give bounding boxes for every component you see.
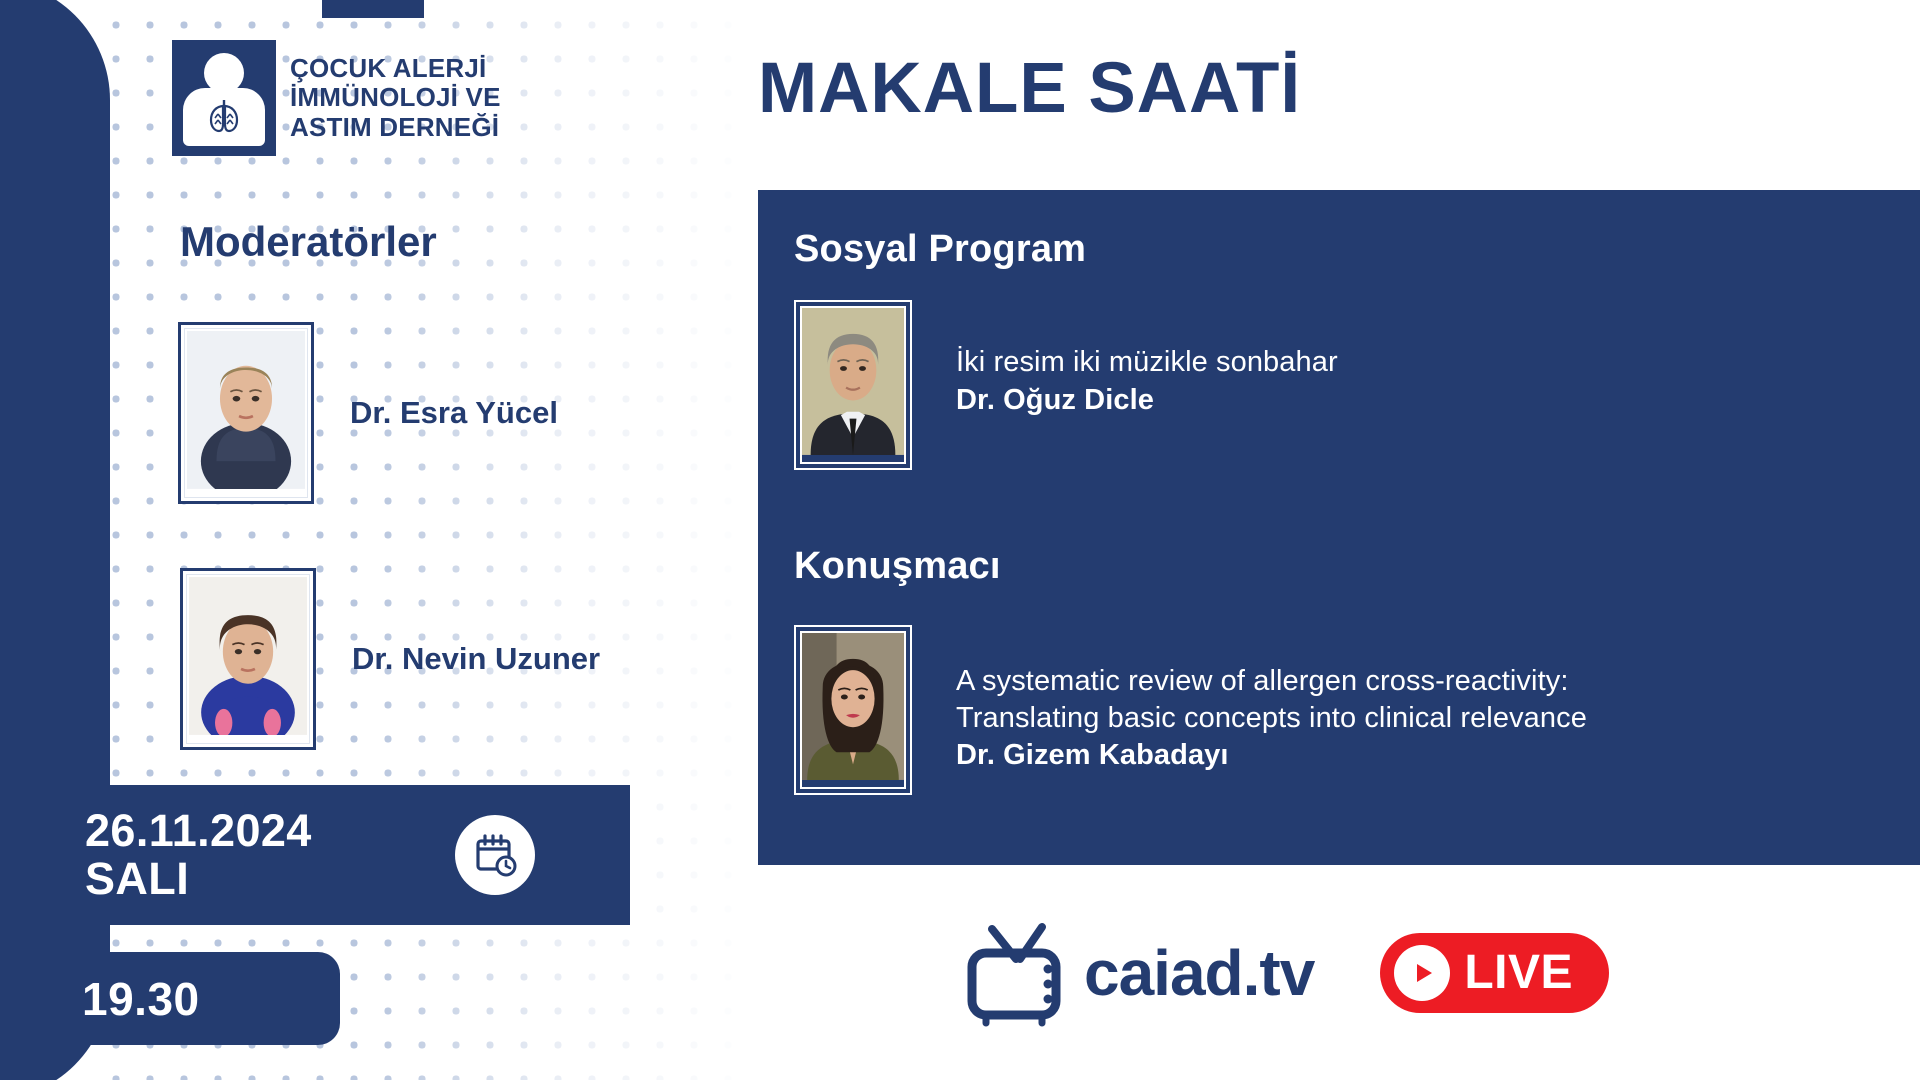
program-panel: Sosyal Program [758,190,1920,865]
moderator-row: Dr. Esra Yücel [178,322,558,504]
speaker-talk-title-line1: A systematic review of allergen cross-re… [956,663,1587,700]
social-program-entry: İki resim iki müzikle sonbahar Dr. Oğuz … [794,300,1338,470]
page-title: MAKALE SAATİ [758,48,1301,129]
avatar [180,568,316,750]
social-program-heading: Sosyal Program [794,228,1086,271]
moderators-heading: Moderatörler [180,218,437,266]
social-program-text: İki resim iki müzikle sonbahar Dr. Oğuz … [956,300,1338,417]
portrait-nevin-uzuner [189,577,307,735]
avatar [794,625,912,795]
play-icon [1394,945,1450,1001]
logo-line-3: ASTIM DERNEĞİ [290,113,501,142]
association-logo-text: ÇOCUK ALERJİ İMMÜNOLOJİ VE ASTIM DERNEĞİ [290,54,501,142]
event-time: 19.30 [82,972,200,1026]
speaker-entry: A systematic review of allergen cross-re… [794,625,1587,795]
event-day: SALI [85,855,312,903]
social-program-speaker: Dr. Oğuz Dicle [956,384,1338,417]
footer-bar: caiad.tv LIVE [758,865,1813,1080]
speaker-talk-title-line2: Translating basic concepts into clinical… [956,700,1587,737]
top-decorative-tab [322,0,424,18]
avatar [794,300,912,470]
poster-root: ÇOCUK ALERJİ İMMÜNOLOJİ VE ASTIM DERNEĞİ… [0,0,1920,1080]
logo-line-1: ÇOCUK ALERJİ [290,54,501,83]
event-date: 26.11.2024 [85,807,312,855]
time-badge: 19.30 [0,952,340,1045]
portrait-oguz-dicle [802,308,904,455]
lungs-glyph [202,94,246,138]
moderator-row: Dr. Nevin Uzuner [180,568,600,750]
avatar [178,322,314,504]
moderator-name: Dr. Esra Yücel [350,395,558,431]
portrait-gizem-kabadayi [802,633,904,780]
live-badge[interactable]: LIVE [1380,933,1609,1013]
date-badge: 26.11.2024 SALI [0,785,630,925]
speaker-section-heading: Konuşmacı [794,545,1001,588]
portrait-esra-yucel [187,331,305,489]
speaker-text: A systematic review of allergen cross-re… [956,625,1587,772]
calendar-clock-icon [455,815,535,895]
child-lungs-icon [172,40,276,156]
live-label: LIVE [1464,945,1573,1000]
logo-line-2: İMMÜNOLOJİ VE [290,83,501,112]
association-logo: ÇOCUK ALERJİ İMMÜNOLOJİ VE ASTIM DERNEĞİ [172,40,501,156]
social-program-talk-title: İki resim iki müzikle sonbahar [956,344,1338,381]
date-badge-text: 26.11.2024 SALI [85,807,312,902]
speaker-name: Dr. Gizem Kabadayı [956,739,1587,772]
tv-icon [962,919,1080,1027]
moderator-name: Dr. Nevin Uzuner [352,641,600,677]
brand-logo[interactable]: caiad.tv [962,919,1314,1027]
brand-name: caiad.tv [1084,936,1314,1010]
